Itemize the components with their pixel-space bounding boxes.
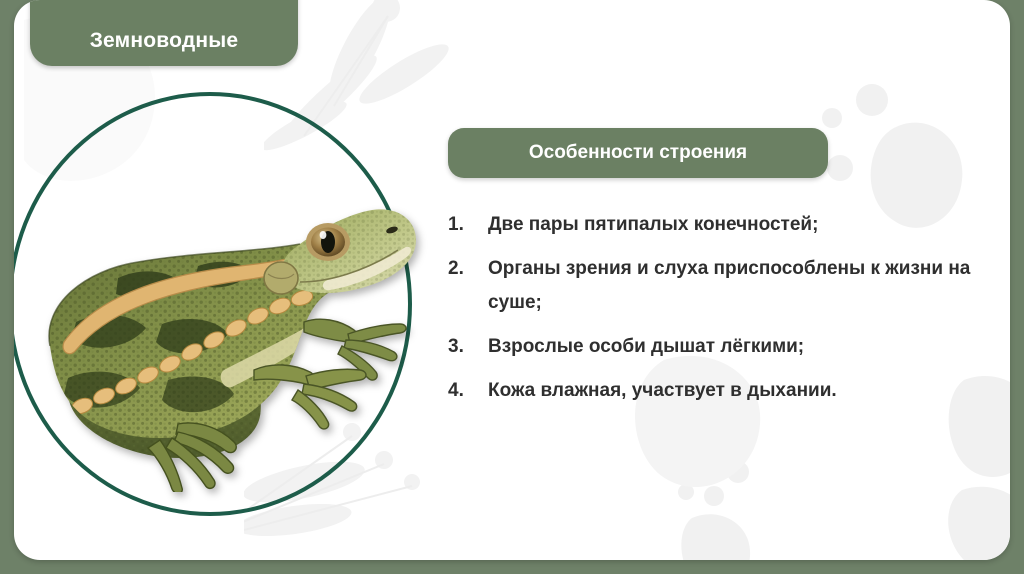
list-item-number: 2.	[448, 252, 488, 286]
list-item-text: Органы зрения и слуха приспособлены к жи…	[488, 252, 993, 320]
section-heading-pill: Особенности строения	[448, 128, 828, 178]
list-item-text: Кожа влажная, участвует в дыхании.	[488, 374, 837, 408]
list-item-text: Две пары пятипалых конечностей;	[488, 208, 818, 242]
page-title: Земноводные	[90, 29, 239, 53]
list-item-text: Взрослые особи дышат лёгкими;	[488, 330, 804, 364]
frog-illustration	[28, 174, 420, 492]
slide-root: Земноводные	[0, 0, 1024, 574]
features-list: 1. Две пары пятипалых конечностей; 2. Ор…	[448, 208, 993, 418]
list-item-number: 1.	[448, 208, 488, 242]
list-item: 1. Две пары пятипалых конечностей;	[448, 208, 993, 242]
illustration-area	[14, 92, 422, 522]
list-item-number: 4.	[448, 374, 488, 408]
slide-title-tab: Земноводные	[30, 0, 298, 66]
slide-card: Земноводные	[14, 0, 1010, 560]
list-item-number: 3.	[448, 330, 488, 364]
list-item: 4. Кожа влажная, участвует в дыхании.	[448, 374, 993, 408]
list-item: 2. Органы зрения и слуха приспособлены к…	[448, 252, 993, 320]
list-item: 3. Взрослые особи дышат лёгкими;	[448, 330, 993, 364]
section-title: Особенности строения	[529, 142, 747, 164]
watermark-paw-bottom-left	[664, 430, 894, 560]
